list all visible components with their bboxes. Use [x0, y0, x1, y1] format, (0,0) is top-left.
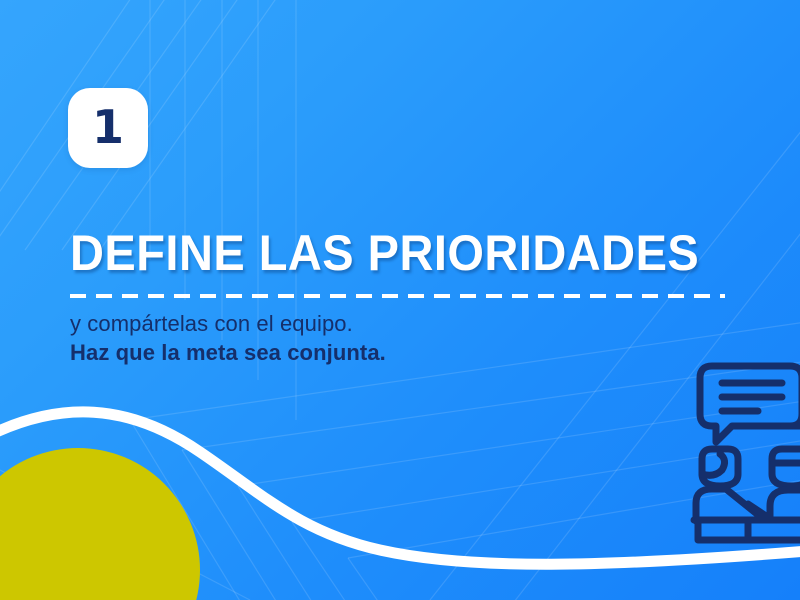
meeting-discussion-icon: [686, 356, 800, 546]
subtitle-line-2: Haz que la meta sea conjunta.: [70, 339, 386, 368]
subtitle-line-1: y compártelas con el equipo.: [70, 310, 386, 339]
yellow-circle-accent: [0, 448, 200, 600]
subtitle-block: y compártelas con el equipo. Haz que la …: [70, 310, 386, 367]
slide-canvas: 1 DEFINE LAS PRIORIDADES y compártelas c…: [0, 0, 800, 600]
step-number-badge: 1: [68, 88, 148, 168]
dashed-divider: [70, 294, 725, 298]
white-wave-curve: [0, 412, 800, 564]
bottom-decoration: [0, 400, 800, 600]
step-number-label: 1: [92, 104, 124, 150]
page-title: DEFINE LAS PRIORIDADES: [70, 228, 709, 278]
